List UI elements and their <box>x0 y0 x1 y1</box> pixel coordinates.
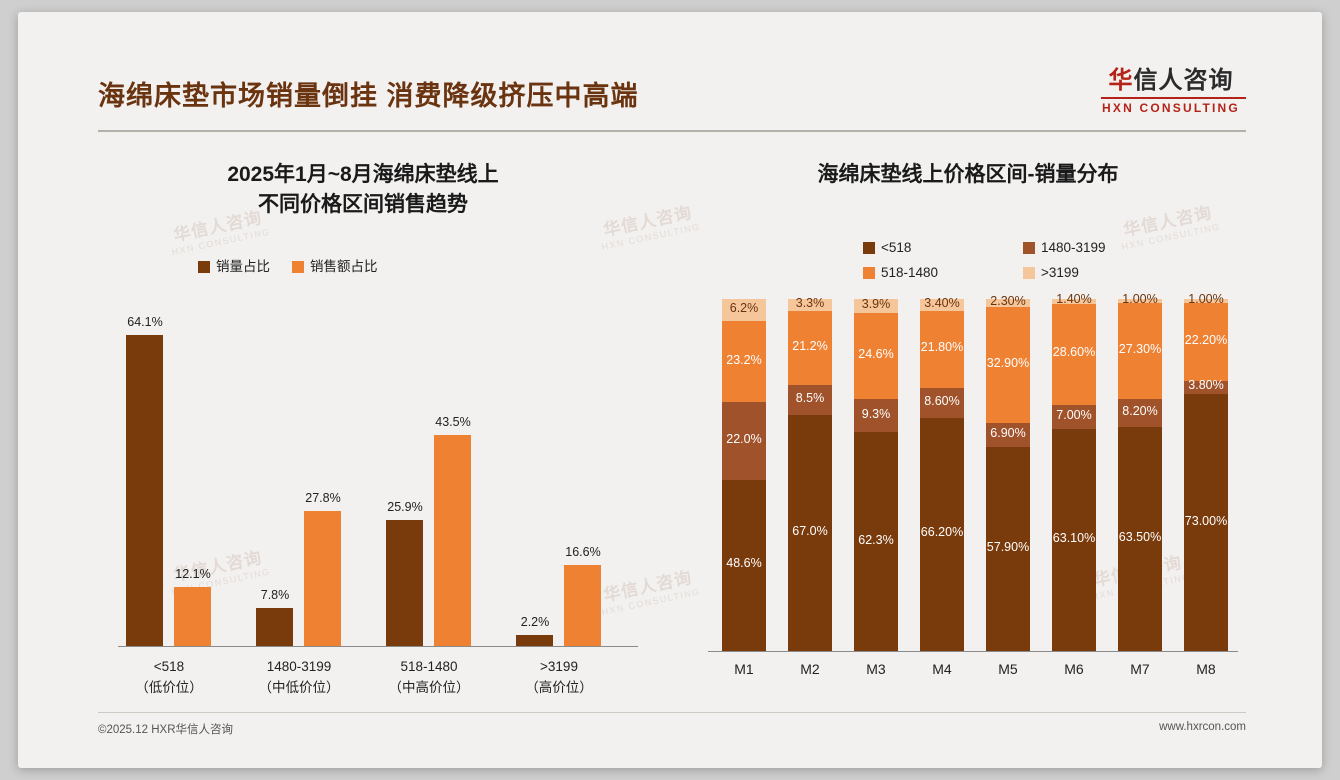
segment-value-label: 66.20% <box>921 525 963 539</box>
segment-value-label: 67.0% <box>792 524 827 538</box>
segment-value-label: 22.0% <box>726 432 761 446</box>
x-axis-label-line2: （低价位） <box>104 677 234 698</box>
left-chart-legend: 销量占比销售额占比 <box>198 255 528 275</box>
bar-value-label: 64.1% <box>115 315 175 329</box>
bar-value-label: 12.1% <box>163 567 223 581</box>
segment-value-label: 28.60% <box>1053 345 1095 359</box>
stacked-bar[interactable]: 2.30%32.90%6.90%57.90% <box>986 299 1030 651</box>
bar-value-label: 16.6% <box>553 545 613 559</box>
slide-header: 海绵床垫市场销量倒挂 消费降级挤压中高端 华信人咨询 HXN CONSULTIN… <box>98 64 1246 132</box>
bar-1[interactable] <box>304 511 341 646</box>
stack-segment-2[interactable]: 32.90% <box>986 307 1030 423</box>
segment-value-label: 3.3% <box>796 296 825 310</box>
legend-item-2[interactable]: 518-1480 <box>863 265 1023 280</box>
bar-0[interactable] <box>386 520 423 646</box>
bar-0[interactable] <box>516 635 553 646</box>
left-chart-title: 2025年1月~8月海绵床垫线上 不同价格区间销售趋势 <box>88 160 638 220</box>
segment-value-label: 3.80% <box>1188 378 1223 392</box>
bar-value-label: 27.8% <box>293 491 353 505</box>
segment-value-label: 24.6% <box>858 347 893 361</box>
legend-label: <518 <box>881 240 911 255</box>
stack-segment-3[interactable]: 3.3% <box>788 299 832 311</box>
x-axis-label: M2 <box>775 661 845 677</box>
stack-segment-1[interactable]: 6.90% <box>986 423 1030 447</box>
logo-char-red: 华 <box>1109 67 1134 94</box>
stack-segment-2[interactable]: 21.80% <box>920 311 964 388</box>
stack-segment-3[interactable]: 3.9% <box>854 299 898 313</box>
legend-item-0[interactable]: <518 <box>863 240 1023 255</box>
logo-text-black: 信人咨询 <box>1134 67 1234 94</box>
x-axis-label: M8 <box>1171 661 1241 677</box>
x-axis-label-line1: <518 <box>104 656 234 677</box>
x-axis-label: <518（低价位） <box>104 656 234 698</box>
x-axis-label-line1: 518-1480 <box>364 656 494 677</box>
stacked-bar[interactable]: 3.3%21.2%8.5%67.0% <box>788 299 832 651</box>
stack-segment-1[interactable]: 7.00% <box>1052 405 1096 430</box>
x-axis-label-line2: （高价位） <box>494 677 624 698</box>
segment-value-label: 8.20% <box>1122 404 1157 418</box>
stack-segment-0[interactable]: 66.20% <box>920 418 964 651</box>
x-axis-label-line2: （中高价位） <box>364 677 494 698</box>
legend-row: <5181480-3199 <box>863 240 1193 265</box>
segment-value-label: 57.90% <box>987 540 1029 554</box>
stack-segment-2[interactable]: 27.30% <box>1118 303 1162 399</box>
segment-value-label: 21.80% <box>921 340 963 354</box>
slide-footer: ©2025.12 HXR华信人咨询 www.hxrcon.com <box>98 712 1246 743</box>
stack-segment-0[interactable]: 73.00% <box>1184 394 1228 651</box>
x-axis-label: >3199（高价位） <box>494 656 624 698</box>
segment-value-label: 73.00% <box>1185 514 1227 528</box>
footer-copyright: ©2025.12 HXR华信人咨询 <box>98 721 233 737</box>
x-axis-label: M6 <box>1039 661 1109 677</box>
segment-value-label: 8.5% <box>796 391 825 405</box>
legend-swatch-icon <box>292 261 304 273</box>
bar-value-label: 7.8% <box>245 588 305 602</box>
segment-value-label: 2.30% <box>990 294 1025 308</box>
segment-value-label: 62.3% <box>858 533 893 547</box>
stack-segment-2[interactable]: 28.60% <box>1052 304 1096 405</box>
x-axis-label: M7 <box>1105 661 1175 677</box>
segment-value-label: 32.90% <box>987 356 1029 370</box>
bar-group: 7.8%27.8% <box>256 306 346 646</box>
x-axis-label-line1: 1480-3199 <box>234 656 364 677</box>
legend-label: >3199 <box>1041 265 1079 280</box>
x-axis-label: M3 <box>841 661 911 677</box>
legend-swatch-icon <box>863 242 875 254</box>
stack-segment-0[interactable]: 63.10% <box>1052 429 1096 651</box>
x-axis-label: M5 <box>973 661 1043 677</box>
stack-segment-2[interactable]: 22.20% <box>1184 303 1228 381</box>
stack-segment-0[interactable]: 48.6% <box>722 480 766 651</box>
x-axis-label: M4 <box>907 661 977 677</box>
right-stacked-bar-chart: 6.2%23.2%22.0%48.6%3.3%21.2%8.5%67.0%3.9… <box>708 290 1238 652</box>
x-axis-label: M1 <box>709 661 779 677</box>
stacked-bar[interactable]: 3.9%24.6%9.3%62.3% <box>854 299 898 651</box>
logo-subtitle: HXN CONSULTING <box>1096 101 1246 115</box>
right-chart-title: 海绵床垫线上价格区间-销量分布 <box>698 160 1238 190</box>
bar-1[interactable] <box>434 435 471 646</box>
segment-value-label: 21.2% <box>792 339 827 353</box>
segment-value-label: 27.30% <box>1119 342 1161 356</box>
legend-item-0[interactable]: 销量占比 <box>198 255 270 275</box>
bar-group: 64.1%12.1% <box>126 306 216 646</box>
x-axis-label-line2: （中低价位） <box>234 677 364 698</box>
segment-value-label: 22.20% <box>1185 333 1227 347</box>
segment-value-label: 63.50% <box>1119 530 1161 544</box>
segment-value-label: 23.2% <box>726 353 761 367</box>
stack-segment-2[interactable]: 21.2% <box>788 311 832 386</box>
legend-item-1[interactable]: 1480-3199 <box>1023 240 1183 255</box>
stack-segment-1[interactable]: 8.20% <box>1118 399 1162 428</box>
legend-row: 518-1480>3199 <box>863 265 1193 290</box>
x-axis-line <box>118 646 638 647</box>
stack-segment-3[interactable]: 6.2% <box>722 299 766 321</box>
slide-canvas: 海绵床垫市场销量倒挂 消费降级挤压中高端 华信人咨询 HXN CONSULTIN… <box>18 12 1322 768</box>
stack-segment-0[interactable]: 67.0% <box>788 415 832 651</box>
bar-0[interactable] <box>256 608 293 646</box>
left-grouped-bar-chart: 64.1%12.1%7.8%27.8%25.9%43.5%2.2%16.6% <… <box>118 297 638 647</box>
logo-divider <box>1101 97 1246 99</box>
bar-1[interactable] <box>564 565 601 646</box>
bar-value-label: 2.2% <box>505 615 565 629</box>
x-axis-label: 1480-3199（中低价位） <box>234 656 364 698</box>
segment-value-label: 9.3% <box>862 407 891 421</box>
stacked-bar[interactable]: 3.40%21.80%8.60%66.20% <box>920 299 964 651</box>
legend-label: 518-1480 <box>881 265 938 280</box>
stacked-bar[interactable]: 1.00%27.30%8.20%63.50% <box>1118 299 1162 651</box>
stacked-bar[interactable]: 1.00%22.20%3.80%73.00% <box>1184 299 1228 651</box>
stack-segment-3[interactable]: 2.30% <box>986 299 1030 307</box>
stack-segment-1[interactable]: 22.0% <box>722 402 766 479</box>
segment-value-label: 48.6% <box>726 556 761 570</box>
legend-label: 1480-3199 <box>1041 240 1106 255</box>
segment-value-label: 3.40% <box>924 296 959 310</box>
stack-segment-3[interactable]: 3.40% <box>920 299 964 311</box>
segment-value-label: 6.2% <box>730 301 759 315</box>
stack-segment-2[interactable]: 23.2% <box>722 321 766 403</box>
segment-value-label: 7.00% <box>1056 408 1091 422</box>
company-logo: 华信人咨询 HXN CONSULTING <box>1096 68 1246 115</box>
stack-segment-1[interactable]: 3.80% <box>1184 381 1228 394</box>
legend-swatch-icon <box>1023 242 1035 254</box>
bar-group: 25.9%43.5% <box>386 306 476 646</box>
legend-label: 销量占比 <box>216 259 270 274</box>
stack-segment-1[interactable]: 8.5% <box>788 385 832 415</box>
bar-value-label: 25.9% <box>375 500 435 514</box>
x-axis-line <box>708 651 1238 652</box>
footer-website: www.hxrcon.com <box>1159 721 1246 733</box>
x-axis-label-line1: >3199 <box>494 656 624 677</box>
stack-segment-2[interactable]: 24.6% <box>854 313 898 400</box>
segment-value-label: 3.9% <box>862 297 891 311</box>
bar-0[interactable] <box>126 335 163 646</box>
bar-1[interactable] <box>174 587 211 646</box>
legend-swatch-icon <box>1023 267 1035 279</box>
legend-item-3[interactable]: >3199 <box>1023 265 1183 280</box>
legend-swatch-icon <box>198 261 210 273</box>
x-axis-label: 518-1480（中高价位） <box>364 656 494 698</box>
stack-segment-0[interactable]: 57.90% <box>986 447 1030 651</box>
stack-segment-1[interactable]: 8.60% <box>920 388 964 418</box>
stack-segment-1[interactable]: 9.3% <box>854 399 898 432</box>
segment-value-label: 6.90% <box>990 426 1025 440</box>
legend-item-1[interactable]: 销售额占比 <box>292 255 378 275</box>
bar-group: 2.2%16.6% <box>516 306 606 646</box>
stacked-bar[interactable]: 6.2%23.2%22.0%48.6% <box>722 299 766 651</box>
stack-segment-0[interactable]: 63.50% <box>1118 427 1162 651</box>
bar-value-label: 43.5% <box>423 415 483 429</box>
legend-label: 销售额占比 <box>310 259 378 274</box>
segment-value-label: 63.10% <box>1053 531 1095 545</box>
stack-segment-0[interactable]: 62.3% <box>854 432 898 651</box>
page-title: 海绵床垫市场销量倒挂 消费降级挤压中高端 <box>98 74 639 113</box>
right-chart-legend: <5181480-3199518-1480>3199 <box>863 240 1193 290</box>
segment-value-label: 8.60% <box>924 394 959 408</box>
legend-swatch-icon <box>863 267 875 279</box>
stacked-bar[interactable]: 1.40%28.60%7.00%63.10% <box>1052 299 1096 651</box>
